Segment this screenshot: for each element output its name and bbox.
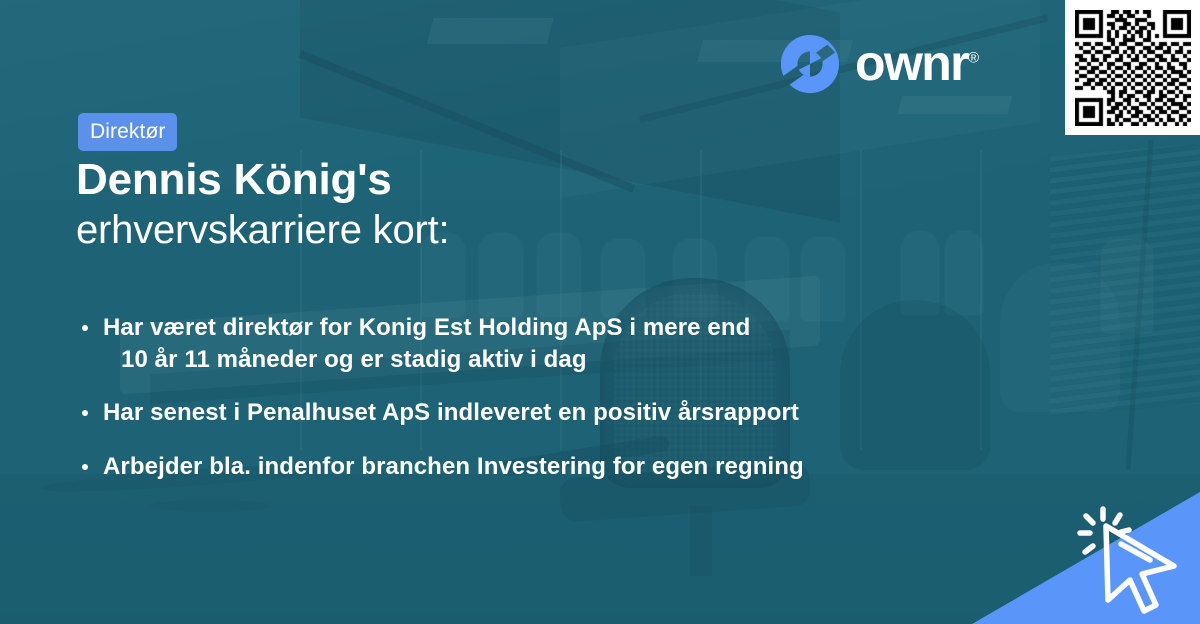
list-item: Arbejder bla. indenfor branchen Invester…: [78, 451, 958, 483]
bullet-dot-icon: [82, 325, 88, 331]
page-subtitle: erhvervskarriere kort:: [76, 209, 449, 252]
ownr-wordmark: ownr®: [855, 38, 979, 88]
list-item-line1: Har senest i Penalhuset ApS indleveret e…: [103, 399, 799, 426]
registered-trademark-icon: ®: [968, 49, 979, 66]
career-card: Direktør Dennis König's erhvervskarriere…: [0, 0, 1200, 624]
ownr-swirl-circle-icon: [779, 33, 841, 95]
page-title: Dennis König's: [76, 157, 392, 203]
click-cursor-icon: [1076, 504, 1186, 616]
wordmark-text: ownr: [855, 35, 968, 91]
qr-code-icon[interactable]: [1075, 10, 1191, 126]
list-item: Har senest i Penalhuset ApS indleveret e…: [78, 397, 958, 429]
list-item-line2: 10 år 11 måneder og er stadig aktiv i da…: [103, 344, 958, 376]
ownr-logo[interactable]: ownr®: [779, 33, 979, 95]
career-highlights-list: Har været direktør for Konig Est Holding…: [78, 312, 958, 505]
list-item: Har været direktør for Konig Est Holding…: [78, 312, 958, 375]
bullet-dot-icon: [82, 410, 88, 416]
list-item-line1: Arbejder bla. indenfor branchen Invester…: [103, 453, 804, 480]
qr-code-panel[interactable]: [1065, 0, 1200, 135]
role-badge: Direktør: [78, 113, 177, 151]
bullet-dot-icon: [82, 464, 88, 470]
list-item-line1: Har været direktør for Konig Est Holding…: [103, 314, 750, 341]
